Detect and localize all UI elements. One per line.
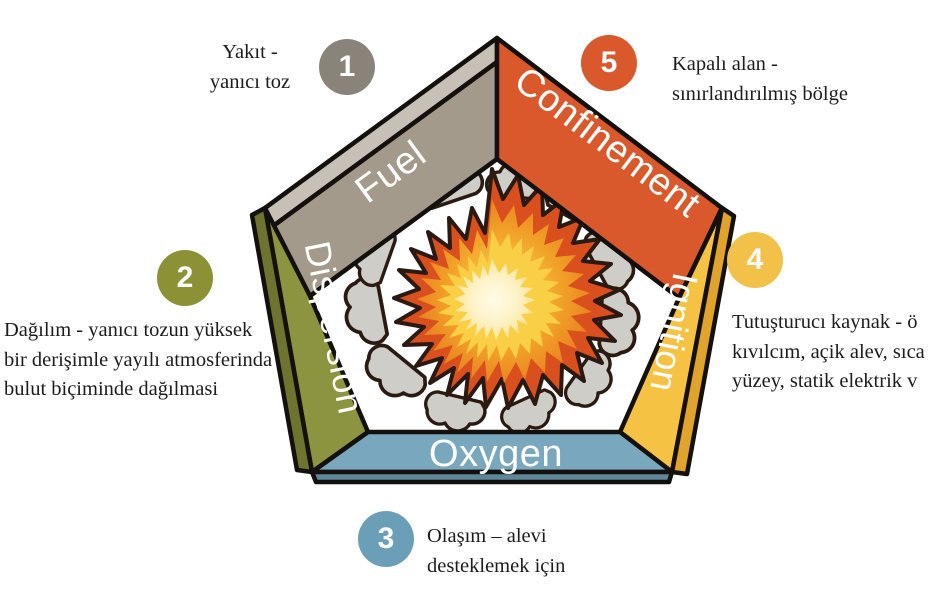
- badge-2-number: 2: [177, 263, 194, 293]
- badge-5-number: 5: [601, 48, 618, 78]
- badge-3[interactable]: 3: [358, 511, 414, 567]
- callout-dispersion: Dağılım - yanıcı tozun yüksek bir derişi…: [4, 316, 304, 405]
- badge-4[interactable]: 4: [727, 232, 783, 288]
- badge-3-number: 3: [378, 524, 395, 554]
- badge-2[interactable]: 2: [157, 250, 213, 306]
- callout-oxygen: Olaşım – alevi desteklemek için: [427, 522, 667, 581]
- callout-confinement: Kapalı alan - sınırlandırılmış bölge: [672, 50, 946, 109]
- panel-oxygen[interactable]: Oxygen: [312, 432, 672, 482]
- badge-5[interactable]: 5: [581, 35, 637, 91]
- callout-fuel: Yakıt - yanıcı toz: [150, 38, 350, 97]
- diagram-canvas: Fuel Confinement Dispersion Ignition Oxy…: [0, 0, 946, 607]
- callout-ignition: Tutuşturucı kaynak - ö kıvılcım, açik al…: [732, 308, 946, 397]
- badge-4-number: 4: [747, 245, 764, 275]
- panel-oxygen-label: Oxygen: [429, 433, 563, 475]
